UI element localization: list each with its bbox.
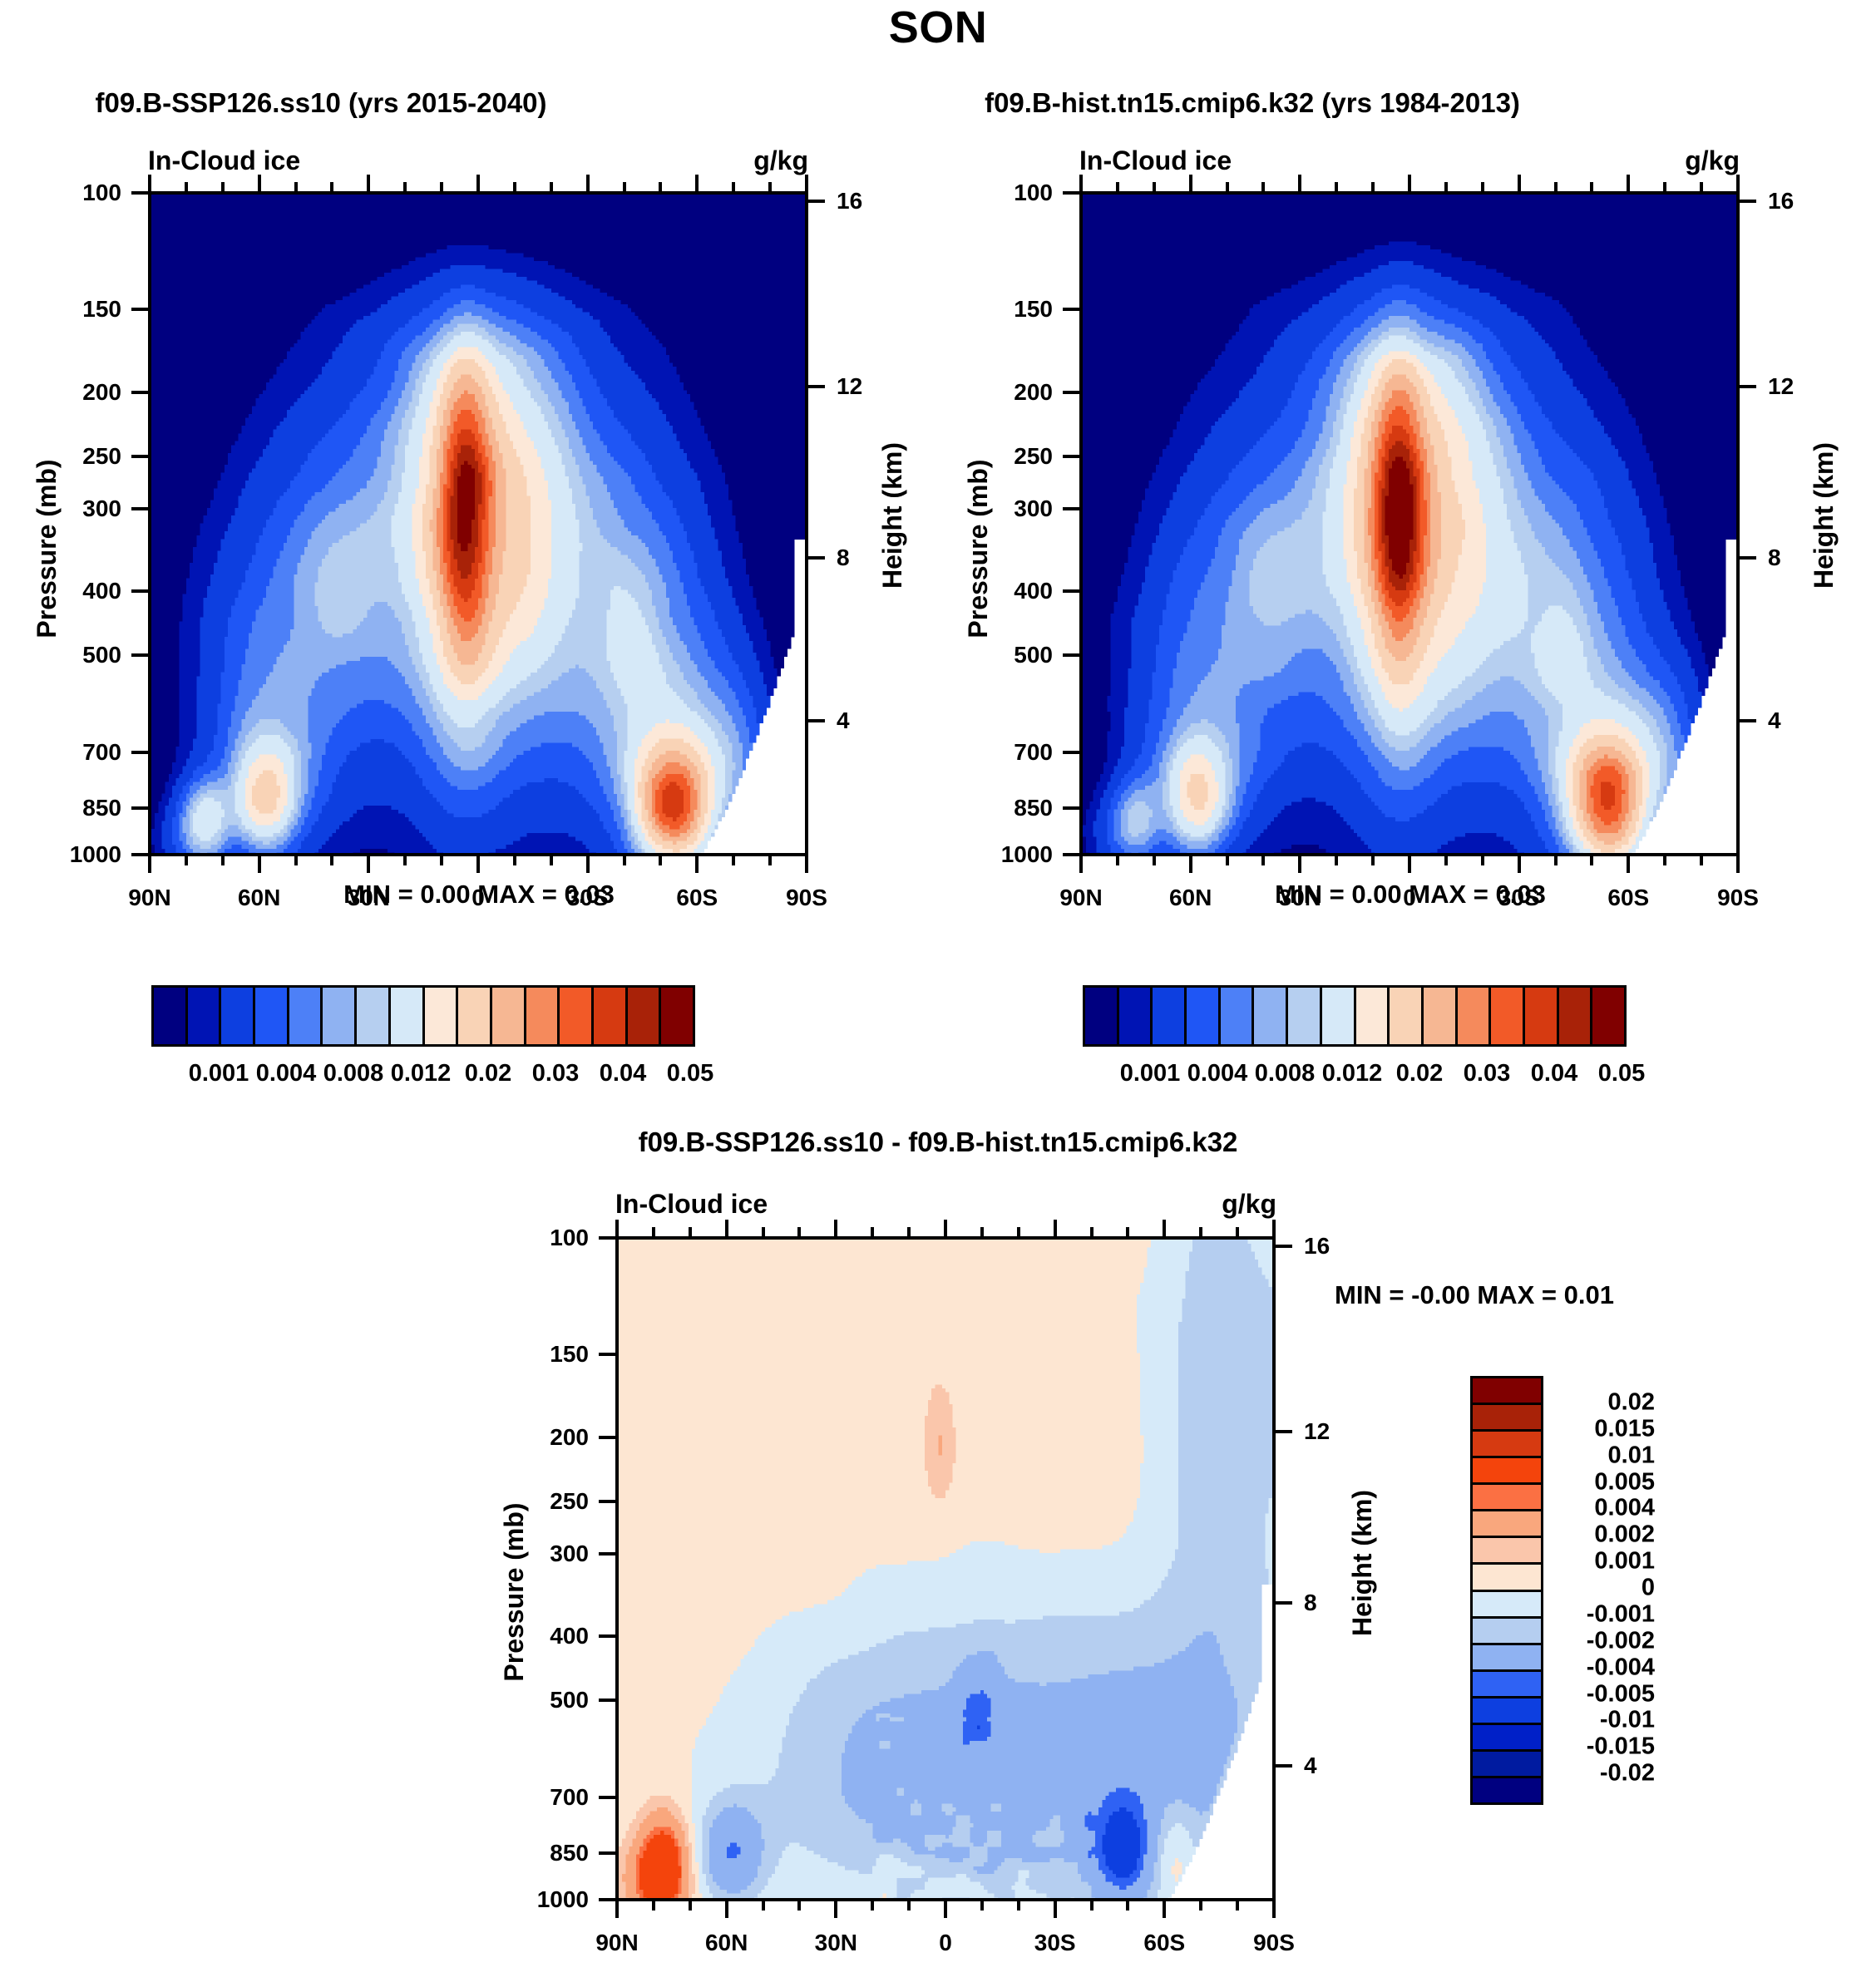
pressure-tick-label: 850 (1014, 795, 1053, 821)
colorbar-cell (1473, 1778, 1541, 1802)
latitude-tick-label: 30N (815, 1930, 857, 1956)
pressure-tick-label: 200 (550, 1424, 589, 1451)
pressure-tick-label: 100 (82, 180, 121, 206)
colorbar-cell (221, 988, 255, 1044)
colorbar-cell (1473, 1672, 1541, 1699)
pressure-tick-label: 1000 (1001, 841, 1053, 868)
figure-root: SON f09.B-SSP126.ss10 (yrs 2015-2040) In… (0, 0, 1876, 1982)
height-tick-label: 16 (837, 188, 862, 214)
colorbar-tick-label: 0.005 (1594, 1468, 1655, 1496)
minmax-ssp126: MIN = 0.00 MAX = 0.03 (343, 880, 615, 910)
height-tick-label: 8 (1768, 545, 1781, 571)
minmax-hist: MIN = 0.00 MAX = 0.03 (1275, 880, 1546, 910)
colorbar-cell (1473, 1511, 1541, 1538)
pressure-axis-title-diff: Pressure (mb) (499, 1502, 530, 1681)
pressure-tick-label: 400 (550, 1623, 589, 1649)
colorbar-cell (560, 988, 594, 1044)
colorbar-tick-label: -0.01 (1600, 1707, 1655, 1734)
axis-ticks-hist (1079, 191, 1740, 856)
pressure-tick-label: 250 (550, 1488, 589, 1515)
colorbar-cell (1473, 1592, 1541, 1619)
pressure-axis-title-hist: Pressure (mb) (963, 459, 994, 638)
colorbar-cell (1491, 988, 1525, 1044)
colorbar-tick-label: 0.012 (391, 1060, 452, 1087)
colorbar-cell (1525, 988, 1559, 1044)
colorbar-cell (154, 988, 188, 1044)
colorbar-cell (1473, 1619, 1541, 1645)
colorbar-tick-label: 0.015 (1594, 1415, 1655, 1442)
pressure-tick-label: 150 (82, 296, 121, 323)
colorbar-tick-label: 0.03 (1464, 1060, 1510, 1087)
colorbar-cell (391, 988, 425, 1044)
pressure-tick-label: 500 (1014, 642, 1053, 668)
variable-name-hist: In-Cloud ice (1079, 145, 1232, 176)
colorbar-tick-label: 0 (1641, 1575, 1655, 1602)
panel-title-hist: f09.B-hist.tn15.cmip6.k32 (yrs 1984-2013… (985, 87, 1520, 119)
latitude-tick-label: 60S (676, 885, 718, 911)
colorbar-tick-label: 0.05 (1598, 1060, 1645, 1087)
colorbar-cell (1288, 988, 1322, 1044)
latitude-tick-label: 60S (1143, 1930, 1185, 1956)
pressure-tick-label: 200 (1014, 379, 1053, 406)
colorbar-cell (188, 988, 222, 1044)
colorbar-tick-label: 0.001 (1120, 1060, 1181, 1087)
colorbar-cell (1473, 1752, 1541, 1778)
colorbar-cell (492, 988, 526, 1044)
colorbar-tick-label: 0.03 (532, 1060, 579, 1087)
panel-title-ssp126: f09.B-SSP126.ss10 (yrs 2015-2040) (95, 87, 546, 119)
colorbar-cell (1592, 988, 1624, 1044)
colorbar-cell (1473, 1378, 1541, 1405)
variable-name-ssp126: In-Cloud ice (148, 145, 300, 176)
colorbar-cell (458, 988, 492, 1044)
colorbar-tick-label: -0.005 (1587, 1680, 1655, 1708)
colorbar-cell (1473, 1699, 1541, 1725)
pressure-tick-label: 1000 (70, 841, 121, 868)
colorbar-cell (526, 988, 560, 1044)
colorbar-tick-label: 0.04 (1531, 1060, 1577, 1087)
axis-ticks-diff (615, 1236, 1276, 1901)
colorbar-cell (1473, 1538, 1541, 1565)
pressure-tick-label: 300 (1014, 495, 1053, 522)
colorbar-tick-label: 0.02 (1608, 1388, 1655, 1416)
colorbar-cell (289, 988, 323, 1044)
height-tick-label: 8 (1304, 1590, 1317, 1616)
colorbar-tick-label: -0.004 (1587, 1654, 1655, 1681)
pressure-tick-label: 150 (550, 1341, 589, 1368)
colorbar-tick-label: 0.008 (1255, 1060, 1316, 1087)
height-tick-label: 8 (837, 545, 850, 571)
colorbar-cell (1356, 988, 1390, 1044)
latitude-tick-label: 90N (128, 885, 170, 911)
pressure-tick-label: 700 (1014, 739, 1053, 766)
pressure-tick-label: 1000 (537, 1886, 589, 1913)
latitude-tick-label: 90S (1717, 885, 1759, 911)
latitude-tick-label: 90S (786, 885, 827, 911)
colorbar-cell (425, 988, 459, 1044)
pressure-tick-label: 300 (550, 1541, 589, 1567)
colorbar-cell (594, 988, 628, 1044)
colorbar-tick-label: 0.012 (1322, 1060, 1383, 1087)
colorbar-cell (1559, 988, 1593, 1044)
colorbar-cell (1458, 988, 1492, 1044)
colorbar-tick-label: 0.004 (1187, 1060, 1248, 1087)
pressure-tick-label: 150 (1014, 296, 1053, 323)
colorbar-tick-label: 0.008 (323, 1060, 384, 1087)
latitude-tick-label: 60N (238, 885, 280, 911)
colorbar-hist (1083, 985, 1627, 1047)
colorbar-tick-label: 0.004 (1594, 1495, 1655, 1522)
colorbar-cell (1473, 1458, 1541, 1485)
colorbar-cell (1187, 988, 1221, 1044)
colorbar-diff (1470, 1376, 1543, 1805)
height-tick-label: 12 (837, 373, 862, 400)
colorbar-cell (357, 988, 391, 1044)
pressure-tick-label: 250 (1014, 443, 1053, 470)
latitude-tick-label: 90N (1059, 885, 1102, 911)
colorbar-tick-label: 0.01 (1608, 1442, 1655, 1469)
colorbar-cell (628, 988, 662, 1044)
latitude-tick-label: 60S (1607, 885, 1649, 911)
height-tick-label: 12 (1304, 1418, 1330, 1445)
colorbar-tick-label: -0.015 (1587, 1733, 1655, 1761)
height-axis-title-ssp126: Height (km) (877, 442, 908, 589)
pressure-tick-label: 850 (550, 1840, 589, 1866)
colorbar-cell (1322, 988, 1356, 1044)
latitude-tick-label: 30S (1034, 1930, 1076, 1956)
colorbar-cell (1085, 988, 1119, 1044)
colorbar-tick-label: -0.001 (1587, 1600, 1655, 1628)
latitude-tick-label: 90N (595, 1930, 638, 1956)
colorbar-cell (1254, 988, 1288, 1044)
colorbar-tick-label: -0.002 (1587, 1627, 1655, 1654)
latitude-tick-label: 60N (705, 1930, 748, 1956)
height-tick-label: 16 (1768, 188, 1794, 214)
pressure-tick-label: 400 (82, 578, 121, 604)
minmax-diff: MIN = -0.00 MAX = 0.01 (1335, 1280, 1614, 1310)
axis-ticks-ssp126 (148, 191, 808, 856)
pressure-tick-label: 500 (82, 642, 121, 668)
height-tick-label: 4 (1304, 1753, 1317, 1779)
units-label-diff: g/kg (1222, 1189, 1276, 1220)
pressure-tick-label: 100 (1014, 180, 1053, 206)
pressure-tick-label: 250 (82, 443, 121, 470)
latitude-tick-label: 90S (1253, 1930, 1295, 1956)
colorbar-cell (1473, 1405, 1541, 1432)
colorbar-tick-label: 0.02 (465, 1060, 511, 1087)
pressure-tick-label: 700 (82, 739, 121, 766)
colorbar-cell (1153, 988, 1187, 1044)
height-tick-label: 4 (837, 708, 850, 734)
pressure-tick-label: 300 (82, 495, 121, 522)
colorbar-cell (1473, 1432, 1541, 1458)
pressure-tick-label: 700 (550, 1784, 589, 1811)
colorbar-ssp126 (151, 985, 695, 1047)
pressure-tick-label: 100 (550, 1225, 589, 1251)
colorbar-tick-label: -0.02 (1600, 1760, 1655, 1787)
units-label-hist: g/kg (1685, 145, 1740, 176)
colorbar-tick-label: 0.05 (667, 1060, 713, 1087)
height-axis-title-diff: Height (km) (1347, 1490, 1378, 1636)
colorbar-cell (1473, 1485, 1541, 1511)
colorbar-cell (1473, 1645, 1541, 1672)
colorbar-cell (1221, 988, 1255, 1044)
variable-name-diff: In-Cloud ice (615, 1189, 768, 1220)
pressure-axis-title-ssp126: Pressure (mb) (32, 459, 62, 638)
colorbar-cell (1473, 1565, 1541, 1591)
pressure-tick-label: 400 (1014, 578, 1053, 604)
colorbar-tick-label: 0.02 (1396, 1060, 1443, 1087)
latitude-tick-label: 60N (1169, 885, 1212, 911)
colorbar-tick-label: 0.002 (1594, 1521, 1655, 1549)
pressure-tick-label: 500 (550, 1687, 589, 1713)
units-label-ssp126: g/kg (753, 145, 808, 176)
colorbar-cell (323, 988, 357, 1044)
colorbar-cell (1424, 988, 1458, 1044)
pressure-tick-label: 200 (82, 379, 121, 406)
latitude-tick-label: 0 (939, 1930, 952, 1956)
colorbar-tick-label: 0.004 (256, 1060, 317, 1087)
colorbar-tick-label: 0.001 (189, 1060, 249, 1087)
height-tick-label: 4 (1768, 708, 1781, 734)
height-axis-title-hist: Height (km) (1809, 442, 1839, 589)
figure-suptitle: SON (889, 2, 988, 53)
colorbar-cell (1390, 988, 1424, 1044)
colorbar-cell (1473, 1725, 1541, 1752)
pressure-tick-label: 850 (82, 795, 121, 821)
colorbar-cell (255, 988, 289, 1044)
colorbar-cell (1119, 988, 1153, 1044)
colorbar-cell (661, 988, 693, 1044)
colorbar-tick-label: 0.04 (600, 1060, 646, 1087)
height-tick-label: 16 (1304, 1233, 1330, 1260)
colorbar-tick-label: 0.001 (1594, 1548, 1655, 1575)
height-tick-label: 12 (1768, 373, 1794, 400)
panel-title-diff: f09.B-SSP126.ss10 - f09.B-hist.tn15.cmip… (639, 1127, 1238, 1158)
